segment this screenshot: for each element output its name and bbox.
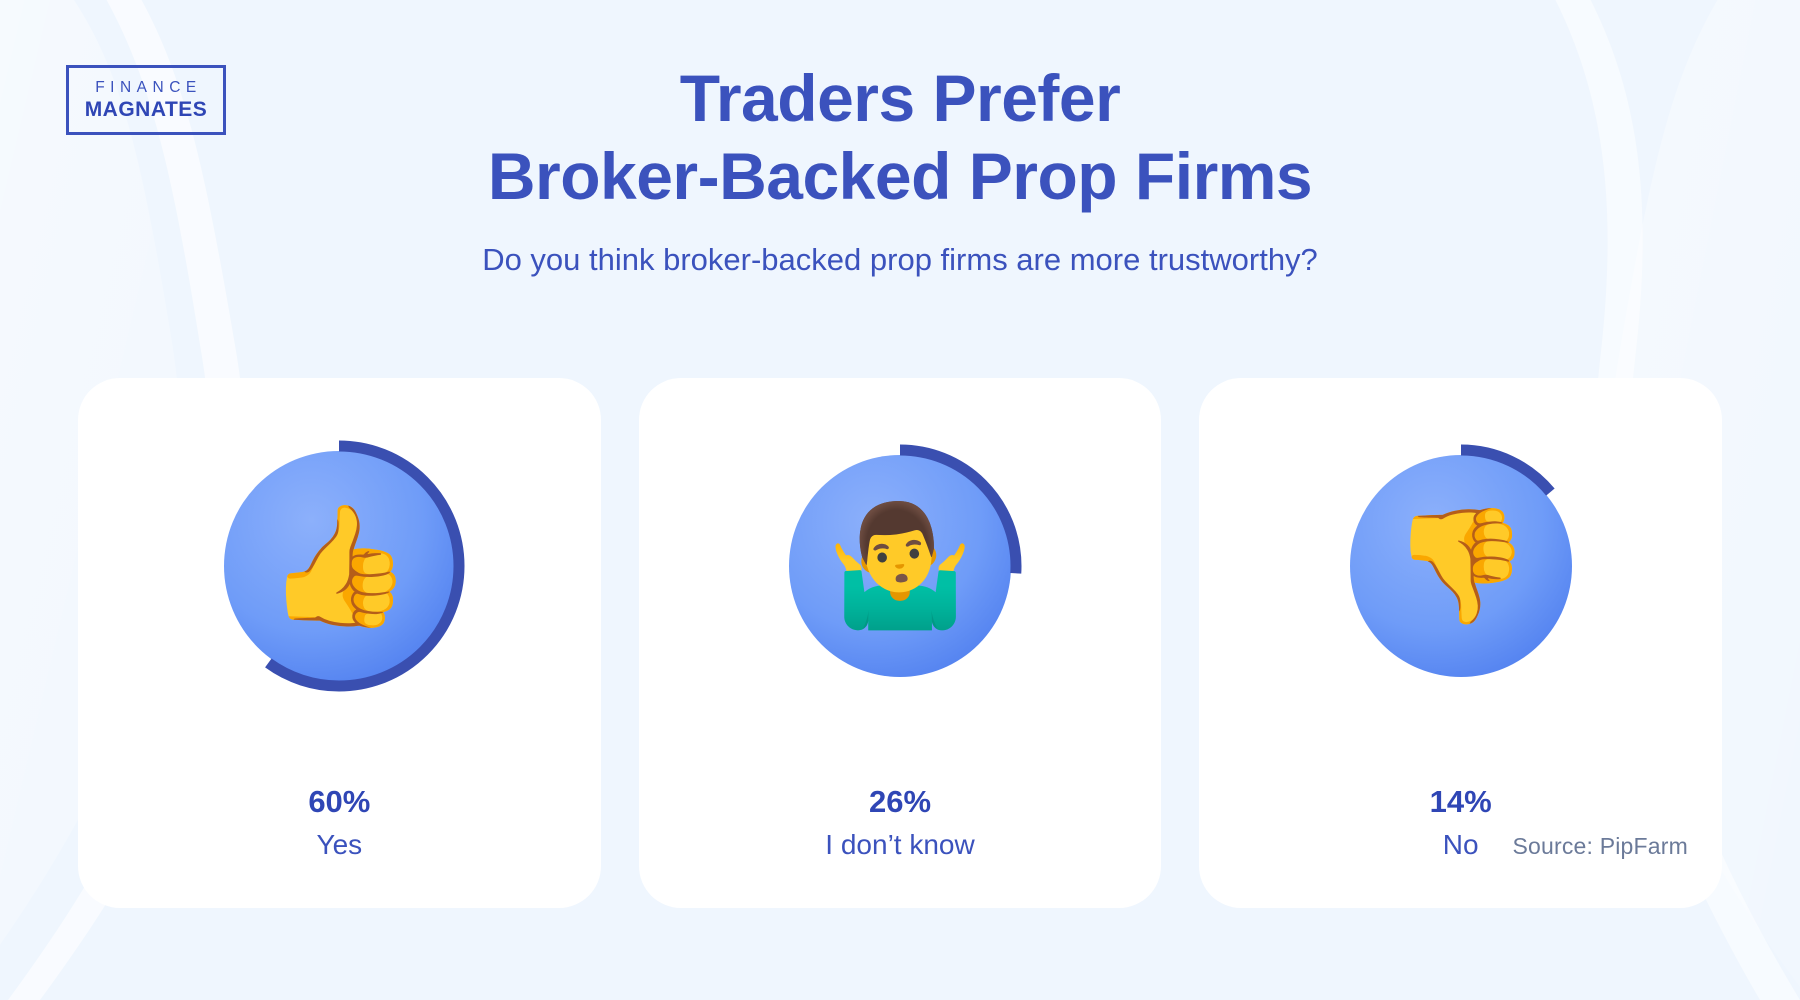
stat-card-yes: 👍 60% Yes bbox=[78, 378, 601, 908]
header: Traders Prefer Broker-Backed Prop Firms … bbox=[0, 60, 1800, 278]
stat-cards: 👍 60% Yes 🤷‍♂️ 26% I don’t know bbox=[78, 378, 1722, 908]
title-line-2: Broker-Backed Prop Firms bbox=[300, 138, 1500, 216]
stat-label-yes: Yes bbox=[316, 831, 362, 859]
donut-chart-dont-know: 🤷‍♂️ bbox=[760, 426, 1040, 706]
page-title: Traders Prefer Broker-Backed Prop Firms bbox=[0, 60, 1800, 216]
page-subtitle: Do you think broker-backed prop firms ar… bbox=[0, 242, 1800, 278]
shrug-emoji: 🤷‍♂️ bbox=[827, 507, 974, 625]
donut-chart-yes: 👍 bbox=[199, 426, 479, 706]
thumbs-down-emoji: 👎 bbox=[1391, 510, 1530, 622]
stat-percent-yes: 60% bbox=[308, 786, 370, 817]
stat-card-no: 👎 14% No bbox=[1199, 378, 1722, 908]
stat-label-no: No bbox=[1443, 831, 1479, 859]
source-attribution: Source: PipFarm bbox=[1512, 833, 1688, 860]
stat-percent-no: 14% bbox=[1430, 786, 1492, 817]
stat-label-dont-know: I don’t know bbox=[825, 831, 974, 859]
thumbs-up-emoji: 👍 bbox=[266, 507, 413, 625]
stat-percent-dont-know: 26% bbox=[869, 786, 931, 817]
stat-card-dont-know: 🤷‍♂️ 26% I don’t know bbox=[639, 378, 1162, 908]
title-line-1: Traders Prefer bbox=[680, 61, 1121, 135]
donut-chart-no: 👎 bbox=[1321, 426, 1601, 706]
